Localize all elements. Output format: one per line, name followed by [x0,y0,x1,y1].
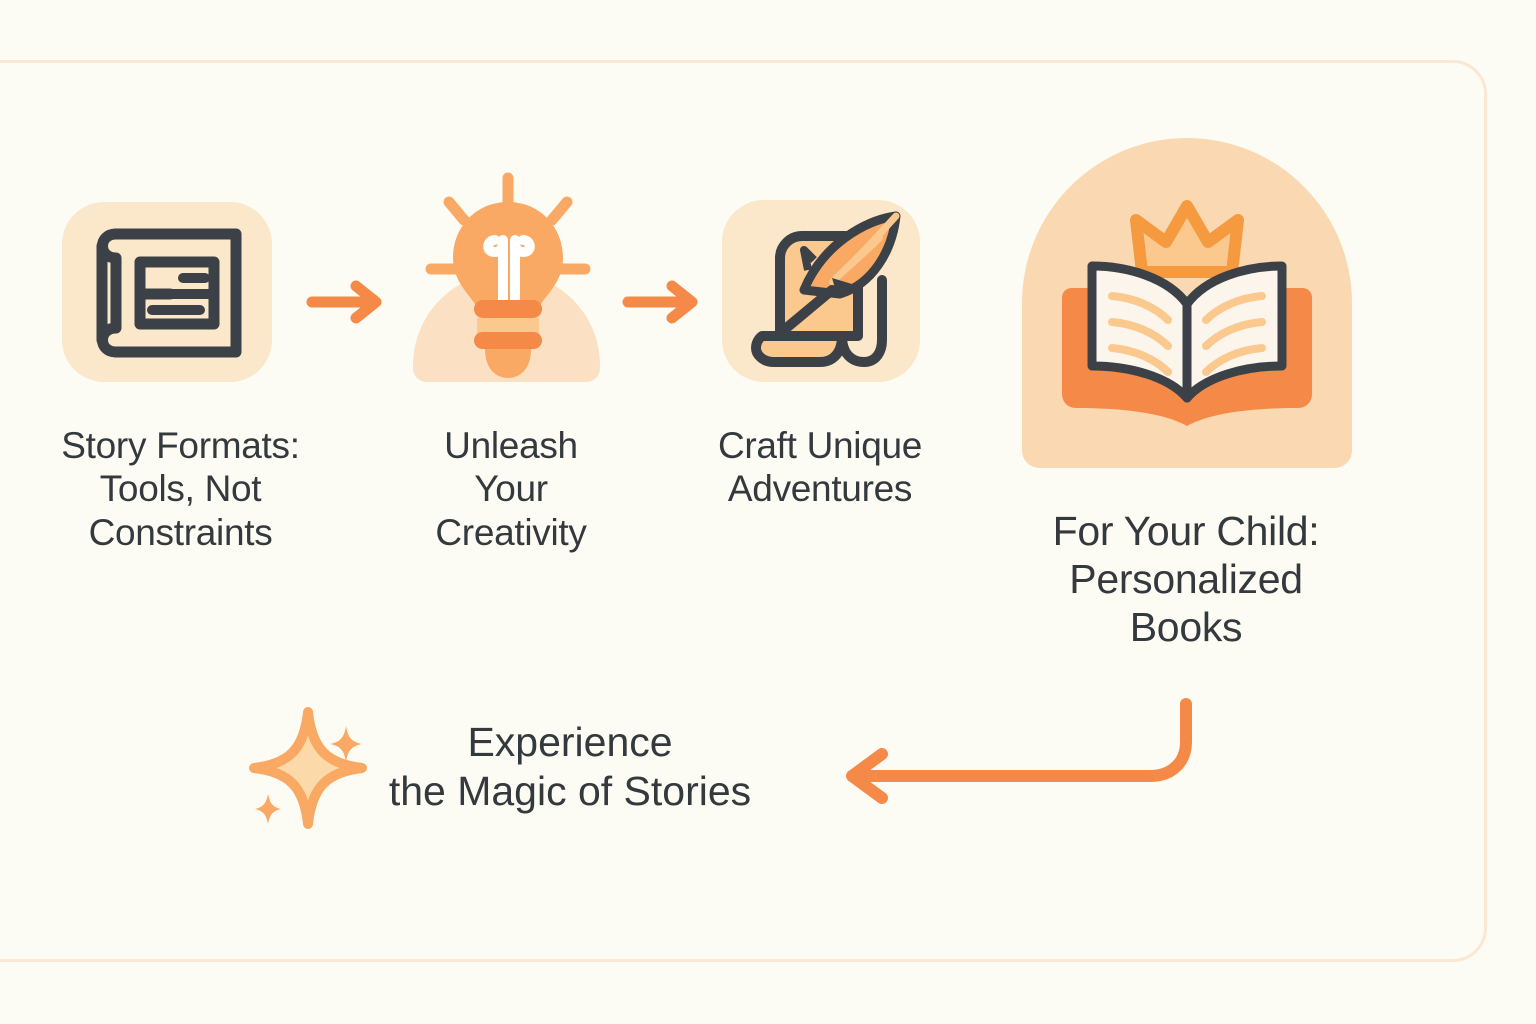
arrow-right-icon [622,280,706,324]
arrow-right-icon [306,280,390,324]
lightbulb-icon [425,172,591,384]
quill-scroll-icon [736,198,916,378]
step-4-label: For Your Child: Personalized Books [1000,508,1372,652]
hero-label: Experience the Magic of Stories [300,718,840,816]
infographic-canvas: Story Formats: Tools, Not Constraints [0,0,1536,1024]
curved-arrow-left-icon [836,694,1206,804]
crowned-open-book-icon [1058,198,1316,450]
blueprint-layout-icon [82,218,254,368]
step-1-label: Story Formats: Tools, Not Constraints [8,424,353,554]
step-2-label: Unleash Your Creativity [400,424,622,554]
step-3-label: Craft Unique Adventures [676,424,964,511]
